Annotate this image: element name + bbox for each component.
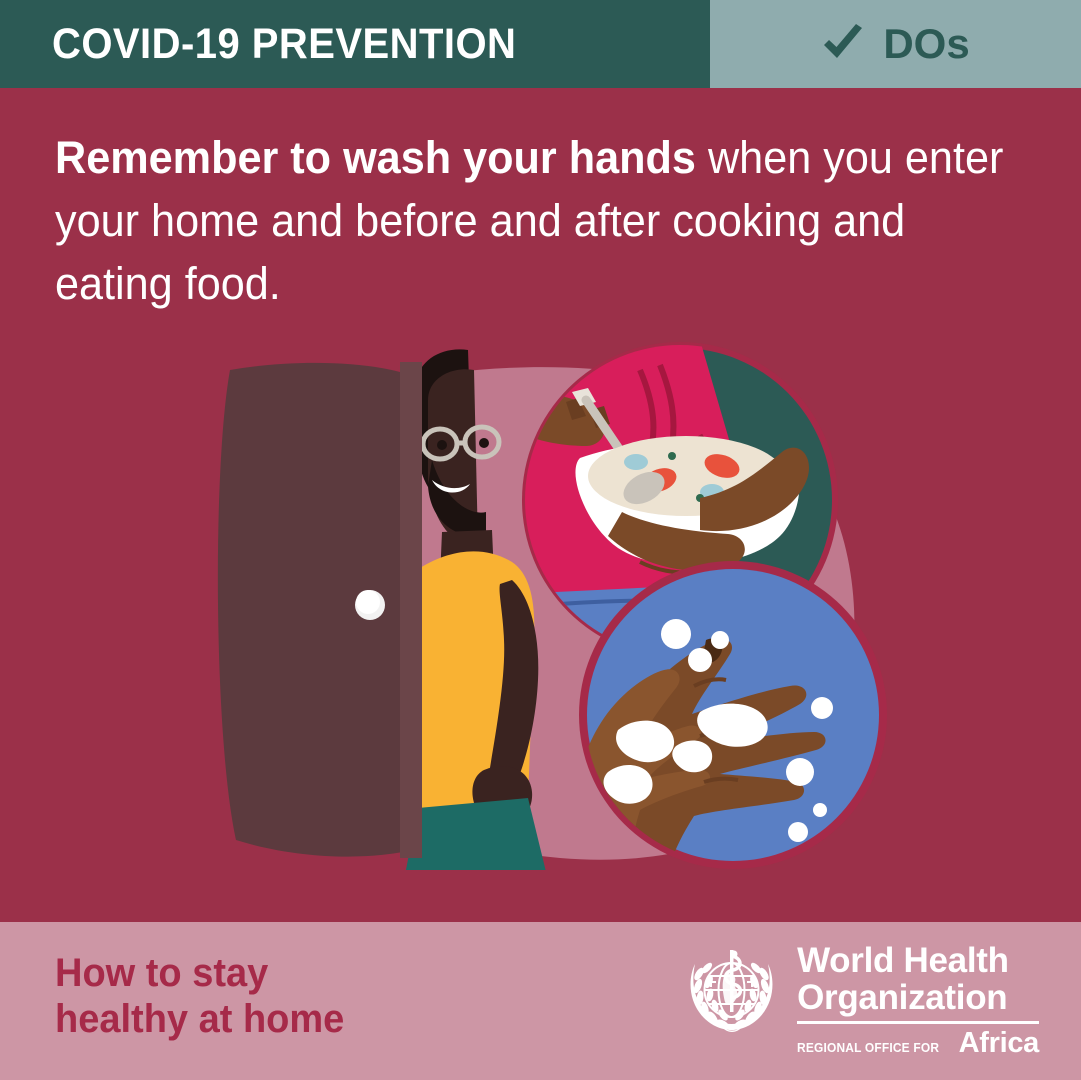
poster-footer: How to stay healthy at home bbox=[0, 922, 1081, 1080]
who-region-prefix: REGIONAL OFFICE FOR bbox=[797, 1040, 939, 1055]
page-title: COVID-19 PREVENTION bbox=[52, 20, 516, 69]
who-name-line-1: World Health bbox=[797, 942, 1039, 979]
check-mark-icon bbox=[821, 24, 865, 64]
poster-header: COVID-19 PREVENTION DOs bbox=[0, 0, 1081, 88]
header-dos-label: DOs bbox=[883, 20, 969, 68]
headline-bold: Remember to wash your hands bbox=[55, 132, 696, 183]
illustration bbox=[0, 340, 1081, 930]
footer-tagline: How to stay healthy at home bbox=[55, 950, 344, 1042]
who-wordmark: World Health Organization REGIONAL OFFIC… bbox=[797, 938, 1039, 1060]
headline-text: Remember to wash your hands when you ent… bbox=[55, 126, 1005, 315]
header-title-band: COVID-19 PREVENTION bbox=[0, 0, 710, 88]
header-dos-band: DOs bbox=[710, 0, 1081, 88]
covid-prevention-poster: COVID-19 PREVENTION DOs Remember to wash… bbox=[0, 0, 1081, 1080]
who-emblem-icon bbox=[679, 938, 784, 1043]
who-divider bbox=[797, 1021, 1039, 1024]
who-region: REGIONAL OFFICE FOR Africa bbox=[797, 1027, 1039, 1060]
who-name-line-2: Organization bbox=[797, 979, 1039, 1016]
who-logo: World Health Organization REGIONAL OFFIC… bbox=[679, 938, 1039, 1060]
who-region-name: Africa bbox=[959, 1027, 1039, 1060]
